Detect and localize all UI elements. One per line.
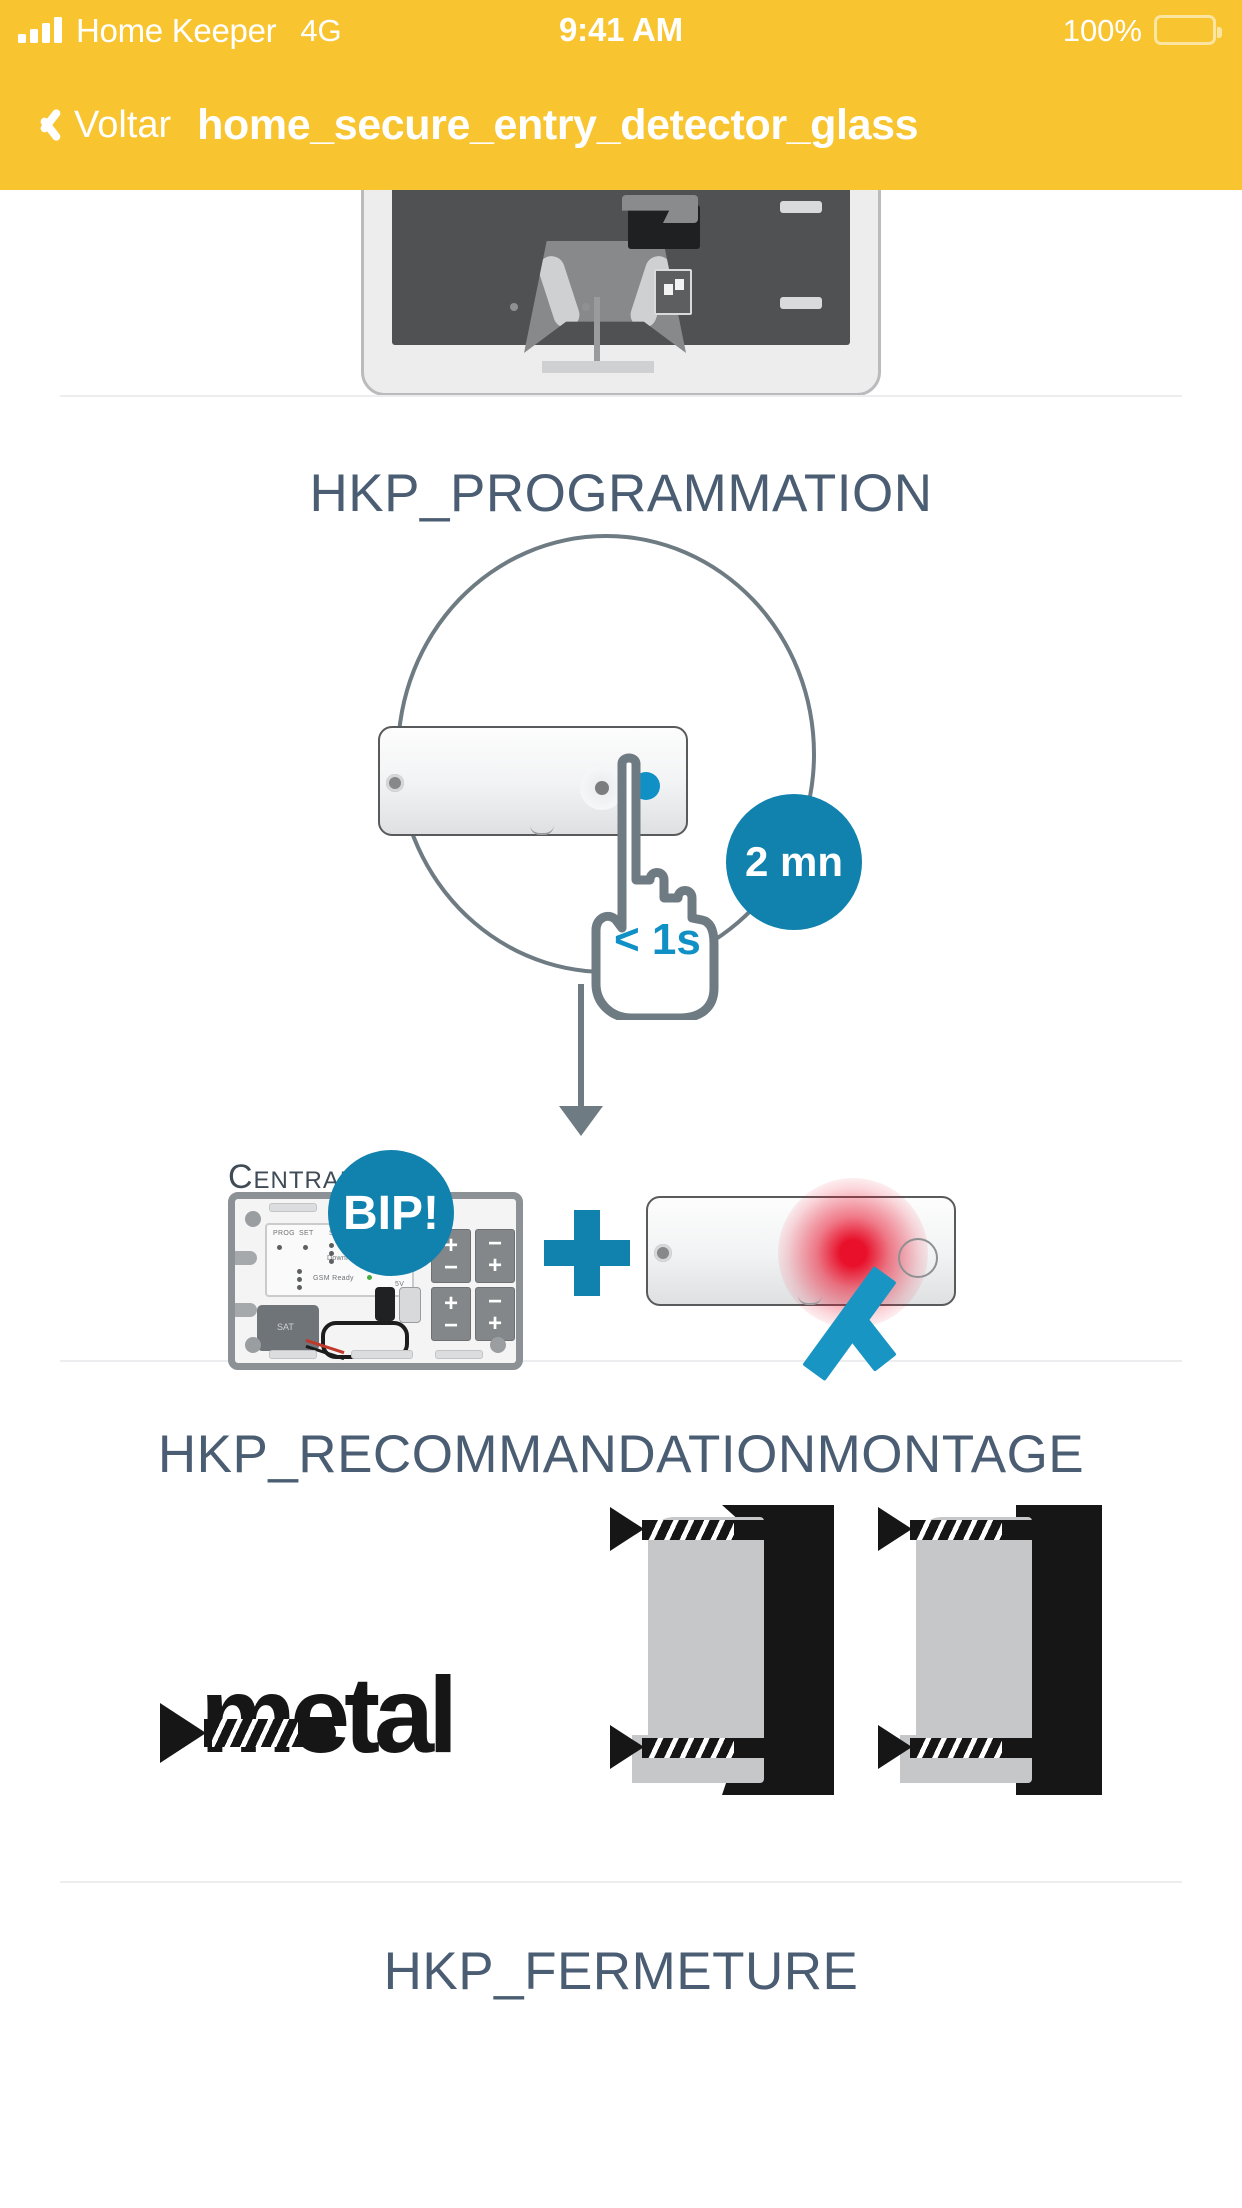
battery-cell: −+ <box>475 1287 515 1341</box>
clip-stem <box>594 297 600 365</box>
carrier-label: Home Keeper <box>76 14 276 47</box>
page-title: home_secure_entry_detector_glass <box>197 104 918 147</box>
signal-bars-icon <box>18 17 62 43</box>
back-button-label: Voltar <box>74 106 171 144</box>
detector-housing <box>361 190 881 395</box>
network-type-label: 4G <box>300 15 341 46</box>
status-bar-left: Home Keeper 4G <box>18 14 342 47</box>
section-title-recommandationmontage: HKP_RECOMMANDATIONMONTAGE <box>0 1428 1242 1481</box>
housing-rail <box>780 201 822 213</box>
section-title-programmation: HKP_PROGRAMMATION <box>0 467 1242 520</box>
battery-cell: +− <box>431 1287 471 1341</box>
prog-label: PROG <box>273 1230 295 1237</box>
press-duration-label: < 1s <box>614 918 701 962</box>
detector-screw-icon <box>386 774 404 792</box>
detector-seam <box>530 825 554 835</box>
battery-cell: −+ <box>475 1229 515 1283</box>
plus-icon <box>544 1210 630 1296</box>
metal-surface-not-allowed: metal <box>160 1661 480 1781</box>
clock-label: 9:41 AM <box>559 11 683 49</box>
mounting-recommendation-illustration: metal <box>0 1481 1242 1881</box>
set-label: SET <box>299 1230 314 1237</box>
section-divider <box>60 395 1182 397</box>
status-bar: Home Keeper 4G 9:41 AM 100% <box>0 0 1242 60</box>
section-title-fermeture: HKP_FERMETURE <box>0 1945 1242 1998</box>
sat-label: SAT <box>277 1322 294 1332</box>
clip-base <box>542 361 654 373</box>
metal-label: metal <box>200 1661 452 1769</box>
flat-surface-allowed <box>882 1505 1102 1795</box>
pairing-window-badge: 2 mn <box>726 794 862 930</box>
status-bar-right: 100% <box>1063 15 1216 46</box>
arrow-down-icon <box>578 984 584 1112</box>
board-pin <box>510 303 518 311</box>
battery-percent-label: 100% <box>1063 15 1142 46</box>
battery-well <box>392 190 850 345</box>
detector-screw-icon <box>654 1244 672 1262</box>
board-pin <box>582 303 590 311</box>
central-unit-pairing-illustration: Central unit PROG SET STATUS Download GS… <box>0 1130 1242 1360</box>
uneven-surface-not-allowed <box>614 1505 834 1795</box>
section-divider <box>60 1881 1182 1883</box>
power-plug <box>375 1287 395 1321</box>
programming-illustration: < 1s 2 mn <box>0 520 1242 1130</box>
dip-switch-icon <box>654 269 692 315</box>
navigation-bar: Voltar home_secure_entry_detector_glass <box>0 60 1242 190</box>
detector-battery-compartment-illustration <box>0 190 1242 395</box>
back-button[interactable]: Voltar <box>34 102 171 148</box>
battery-full-icon <box>1154 15 1216 45</box>
housing-rail <box>780 297 822 309</box>
pointing-hand-icon <box>588 752 720 1020</box>
gsm-label: GSM Ready <box>313 1275 354 1282</box>
scroll-content[interactable]: HKP_PROGRAMMATION < 1s 2 mn Central unit… <box>0 190 1242 2208</box>
chevron-left-icon <box>34 102 60 148</box>
tamper-switch <box>628 205 700 249</box>
check-icon <box>852 1262 980 1354</box>
beep-badge: BIP! <box>328 1150 454 1276</box>
sat-module: SAT <box>257 1305 319 1351</box>
power-plug-secondary <box>399 1287 421 1323</box>
